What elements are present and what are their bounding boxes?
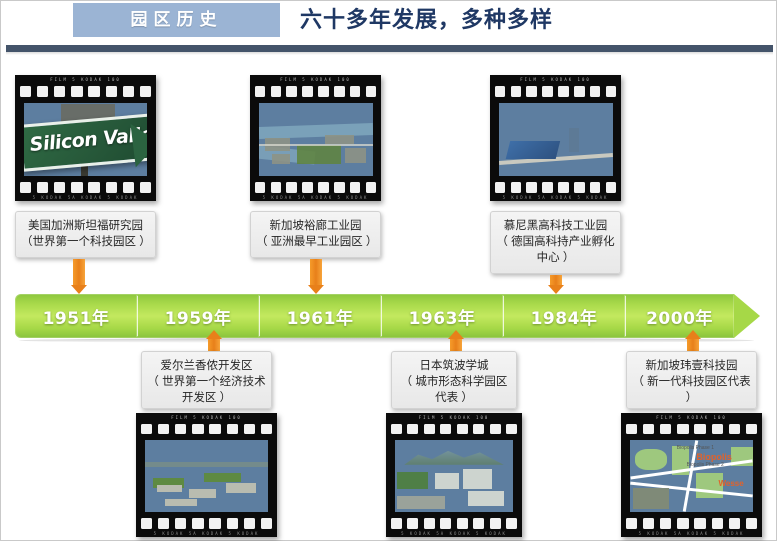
map-green-area [635,449,667,471]
road-sign-text: Silicon Valley [29,122,147,156]
film-edge-bottom-marks: 5 KODAK 5A KODAK 5 KODAK [250,195,381,200]
header-divider-rule [6,45,773,52]
film-edge-top-marks: FILM 5 KODAK 100 [136,415,277,420]
photo-image-jurong [259,103,373,176]
timeline-segment-1963[interactable]: 1963年 [381,294,503,338]
callout-top-3: 慕尼黑高科技工业园 （ 德国高科持产业孵化中心 ） [490,211,621,274]
connector-arrow-up-2000 [685,330,701,353]
connector-arrow-up-1963 [448,330,464,353]
film-perforations-bottom [490,178,621,196]
photo-green-park [397,472,428,489]
film-perforations-top [136,420,277,437]
timeline-divider [625,296,626,336]
connector-stem [73,259,85,285]
photo-image-munich [499,103,613,176]
timeline-bar: 1951年 1959年 1961年 1963年 1984年 2000年 [15,294,760,338]
timeline-arrow-tip-icon [734,294,760,338]
page-title: 六十多年发展，多种多样 [300,4,553,36]
timeline-segment-1959[interactable]: 1959年 [137,294,259,338]
callout-note: （ 世界第一个经济技术开发区 ） [147,374,266,406]
film-edge-top-marks: FILM 5 KODAK 100 [386,415,522,420]
header-tab: 园区历史 [73,3,280,37]
film-edge-bottom-marks: 5 KODAK 5A KODAK 5 KODAK [15,195,156,200]
connector-arrow-down-1984 [548,275,564,294]
one-north-biopolis-map-photo: FILM 5 KODAK 100 Biopolis Biopolis Phase… [621,413,762,537]
map-label-biopolis: Biopolis [696,452,732,462]
map-label-wessex: Wesse [718,479,743,488]
photo-block [165,499,197,506]
film-perforations-top [490,83,621,101]
silicon-valley-sign-photo: FILM 5 KODAK 100 Silicon Valley 5 KODAK … [15,75,156,201]
jurong-industrial-park-aerial-photo: FILM 5 KODAK 100 5 KODAK 5A KODAK 5 KODA… [250,75,381,201]
photo-block [226,483,255,493]
timeline-year-label: 1984年 [531,304,598,329]
photo-mountain-range [404,446,503,465]
arrow-head-up-icon [206,330,222,339]
map-label-phase1: Biopolis Phase 1 [677,445,714,451]
photo-parking-lot [397,496,444,509]
callout-note: （ 新一代科技园区代表 ） [632,374,751,406]
arrow-head-down-icon [71,285,87,294]
timeline-shadow [19,338,754,343]
munich-hightech-park-aerial-photo: FILM 5 KODAK 100 5 KODAK 5A KODAK 5 KODA… [490,75,621,201]
film-perforations-bottom [250,178,381,196]
header-divider-shadow [6,52,773,55]
arrow-head-up-icon [685,330,701,339]
timeline-segment-1951[interactable]: 1951年 [15,294,137,338]
photo-block [325,135,355,144]
photo-block [345,148,366,163]
map-satellite-inset [633,488,670,510]
header-tab-label: 园区历史 [73,3,280,37]
tsukuba-science-city-aerial-photo: FILM 5 KODAK 100 5 KODAK 5A KODAK 5 KODA… [386,413,522,537]
film-perforations-top [386,420,522,437]
film-edge-top-marks: FILM 5 KODAK 100 [250,77,381,82]
callout-name: 慕尼黑高科技工业园 [496,218,615,234]
arrow-head-down-icon [548,285,564,294]
arrow-head-up-icon [448,330,464,339]
callout-bottom-3: 新加坡玮壹科技园 （ 新一代科技园区代表 ） [626,351,757,409]
photo-block [157,485,182,492]
connector-arrow-down-1951 [71,259,87,294]
callout-note: （ 亚洲最早工业园区 ） [256,234,375,250]
film-edge-bottom-marks: 5 KODAK 5A KODAK 5 KODAK [621,531,762,536]
timeline-segment-1984[interactable]: 1984年 [503,294,625,338]
photo-image-biopolis-map: Biopolis Biopolis Phase 1 Biopolis Phase… [630,440,753,512]
callout-note: （世界第一个科技园区 ） [21,234,150,250]
photo-building [435,473,459,489]
photo-road-sign: Silicon Valley [24,113,147,172]
connector-stem [310,259,322,285]
callout-note: （ 德国高科持产业孵化中心 ） [496,234,615,266]
connector-arrow-down-1961 [308,259,324,294]
map-label-phase2: Biopolis Phase 2 [687,462,724,468]
timeline-segment-2000[interactable]: 2000年 [625,294,734,338]
film-edge-top-marks: FILM 5 KODAK 100 [621,415,762,420]
photo-image-shannon [145,440,268,512]
film-edge-bottom-marks: 5 KODAK 5A KODAK 5 KODAK [136,531,277,536]
timeline-divider [503,296,504,336]
callout-note: （ 城市形态科学园区代表 ） [397,374,511,406]
arrow-head-down-icon [308,285,324,294]
callout-top-1: 美国加洲斯坦福研究园 （世界第一个科技园区 ） [15,211,156,258]
timeline-segment-1961[interactable]: 1961年 [259,294,381,338]
photo-building [468,491,504,507]
connector-stem [550,275,562,285]
timeline-year-label: 2000年 [646,304,713,329]
timeline-divider [137,296,138,336]
timeline-year-label: 1959年 [165,304,232,329]
callout-name: 新加坡裕廊工业园 [256,218,375,234]
photo-image-tsukuba [395,440,513,512]
film-edge-bottom-marks: 5 KODAK 5A KODAK 5 KODAK [490,195,621,200]
film-edge-bottom-marks: 5 KODAK 5A KODAK 5 KODAK [386,531,522,536]
callout-bottom-2: 日本筑波学城 （ 城市形态科学园区代表 ） [391,351,517,409]
callout-top-2: 新加坡裕廊工业园 （ 亚洲最早工业园区 ） [250,211,381,258]
slide-canvas: 园区历史 六十多年发展，多种多样 FILM 5 KODAK 100 Silico… [0,0,777,541]
timeline-divider [381,296,382,336]
photo-green-field [204,473,241,482]
callout-name: 新加坡玮壹科技园 [632,358,751,374]
photo-horizon-hills [145,462,268,467]
timeline-divider [259,296,260,336]
photo-building [463,469,491,489]
timeline-year-label: 1963年 [409,304,476,329]
shannon-development-zone-aerial-photo: FILM 5 KODAK 100 5 KODAK 5A KODAK 5 KODA… [136,413,277,537]
callout-name: 爱尔兰香侬开发区 [147,358,266,374]
film-perforations-bottom [136,515,277,532]
callout-name: 美国加洲斯坦福研究园 [21,218,150,234]
film-edge-top-marks: FILM 5 KODAK 100 [15,77,156,82]
film-perforations-top [15,83,156,101]
photo-image-silicon-valley: Silicon Valley [24,103,147,176]
callout-bottom-1: 爱尔兰香侬开发区 （ 世界第一个经济技术开发区 ） [141,351,272,409]
photo-block [189,489,216,498]
photo-road [259,144,373,146]
film-perforations-top [621,420,762,437]
film-perforations-top [250,83,381,101]
timeline-year-label: 1951年 [43,304,110,329]
photo-green-field [297,145,340,164]
callout-name: 日本筑波学城 [397,358,511,374]
photo-office-tower [569,128,579,153]
photo-block [272,154,290,164]
photo-waterway [259,123,373,139]
connector-arrow-up-1959 [206,330,222,353]
photo-blue-roof-building [505,141,560,159]
film-edge-top-marks: FILM 5 KODAK 100 [490,77,621,82]
film-perforations-bottom [621,515,762,532]
film-perforations-bottom [15,178,156,196]
film-perforations-bottom [386,515,522,532]
timeline-year-label: 1961年 [287,304,354,329]
